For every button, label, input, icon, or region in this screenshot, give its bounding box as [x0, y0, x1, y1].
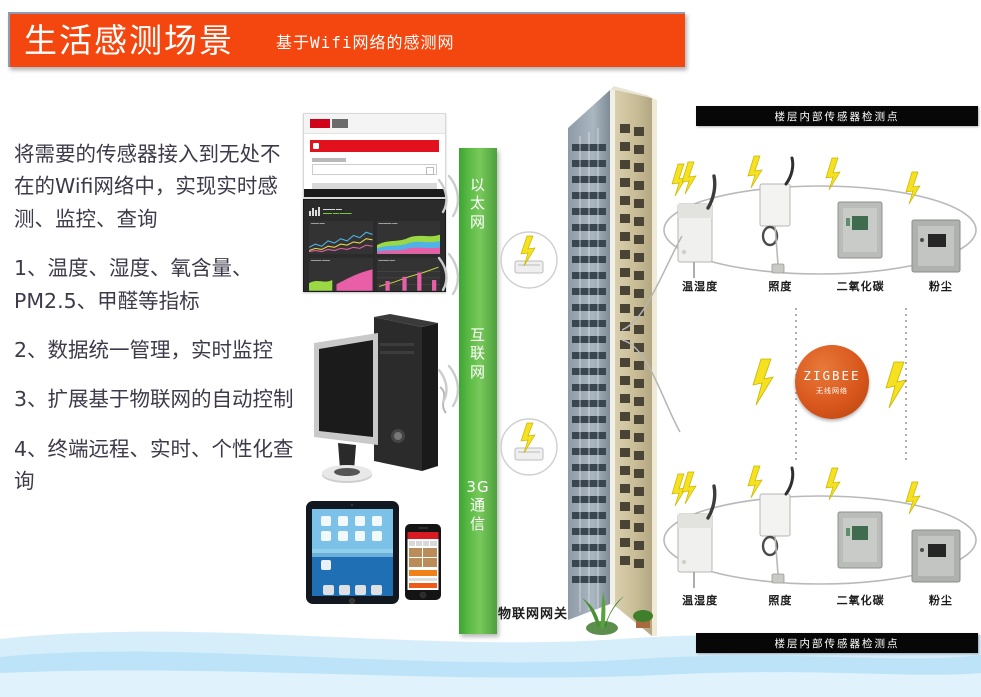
wifi-access-point-lower	[498, 415, 560, 479]
sensor-label-illuminance: 照度	[740, 278, 820, 294]
sensor-temperature-humidity	[672, 472, 715, 588]
chart-caption: ▬▬▬ ▬▬	[311, 222, 325, 225]
floor-label-bar-upper: 楼层内部传感器检测点	[696, 106, 978, 126]
field-label	[312, 158, 346, 162]
sensor-co2	[826, 158, 882, 258]
floor-label-bar-lower: 楼层内部传感器检测点	[696, 633, 978, 653]
gateway-label: 物联网网关	[498, 603, 568, 622]
phone-number-input[interactable]	[312, 164, 437, 175]
brand-text-icon	[332, 119, 348, 128]
floor-label-text: 楼层内部传感器检测点	[775, 109, 900, 124]
description-paragraph-3: 3、扩展基于物联网的自动控制	[14, 383, 294, 415]
logo-bars-icon	[309, 207, 320, 216]
web-page-header	[304, 114, 445, 134]
signal-arcs	[425, 150, 465, 470]
description-text-column: 将需要的传感器接入到无处不在的Wifi网络中，实现实时感测、监控、查询 1、温度…	[14, 138, 294, 514]
sensor-dust	[906, 482, 960, 582]
description-paragraph-1: 1、温度、湿度、氧含量、PM2.5、甲醛等指标	[14, 252, 294, 317]
dashboard-chart-area: ▬▬▬▬ ▬▬▬	[309, 258, 373, 291]
alert-banner	[310, 140, 439, 152]
chart-caption: ▬▬▬▬▬ ▬▬	[379, 222, 398, 225]
sensor-label-dust: 粉尘	[901, 592, 981, 608]
sensor-label-illuminance: 照度	[740, 592, 820, 608]
dashboard-chart-line: ▬▬▬ ▬▬	[309, 221, 373, 254]
sensor-label-temperature-humidity: 温湿度	[660, 592, 740, 608]
sensor-label-dust: 粉尘	[901, 278, 981, 294]
network-char: 信	[459, 515, 497, 533]
sensor-label-co2: 二氧化碳	[821, 278, 901, 294]
lower-sensor-cluster	[660, 462, 981, 602]
sensor-illuminance	[748, 466, 793, 583]
wifi-access-point-upper	[498, 228, 560, 292]
chart-caption: ▬▬▬▬ ▬▬	[379, 259, 395, 262]
sensor-dust	[906, 172, 960, 272]
description-paragraph-0: 将需要的传感器接入到无处不在的Wifi网络中，实现实时感测、监控、查询	[14, 138, 294, 235]
sensor-illuminance	[748, 156, 793, 273]
upper-sensor-labels: 温湿度 照度 二氧化碳 粉尘	[660, 278, 981, 294]
smartphone-device	[404, 523, 442, 601]
dashboard-header: ▬▬▬▬ ▬▬ ▬▬▬ ▬▬ ▬▬▬▬	[309, 205, 440, 218]
sensor-co2	[826, 468, 882, 568]
page-title: 生活感测场景	[24, 24, 234, 57]
page-subtitle: 基于Wifi网络的感测网	[276, 29, 455, 53]
network-char: 通	[459, 496, 497, 514]
zigbee-dotted-boundary	[760, 300, 960, 470]
upper-sensor-cluster	[660, 152, 981, 292]
dashboard-subtitle: ▬▬▬ ▬▬ ▬▬▬▬	[323, 212, 352, 216]
sensor-label-co2: 二氧化碳	[821, 592, 901, 608]
brand-logo-icon	[310, 119, 330, 128]
floor-label-text: 楼层内部传感器检测点	[775, 636, 900, 651]
description-paragraph-2: 2、数据统一管理，实时监控	[14, 334, 294, 366]
lower-sensor-labels: 温湿度 照度 二氧化碳 粉尘	[660, 592, 981, 608]
dashboard-chart-grid: ▬▬▬ ▬▬ ▬▬▬▬▬ ▬▬ ▬▬▬▬ ▬▬▬ ▬▬▬▬ ▬▬	[309, 221, 440, 291]
network-group-3g: 3G 通 信	[459, 478, 497, 533]
tablet-device	[305, 500, 400, 605]
chart-caption: ▬▬▬▬ ▬▬▬	[311, 259, 330, 262]
description-paragraph-4: 4、终端远程、实时、个性化查询	[14, 433, 294, 498]
network-char: 3G	[459, 478, 497, 496]
slide-header-banner: 生活感测场景 基于Wifi网络的感测网	[8, 12, 685, 67]
web-page-footer	[304, 189, 445, 197]
